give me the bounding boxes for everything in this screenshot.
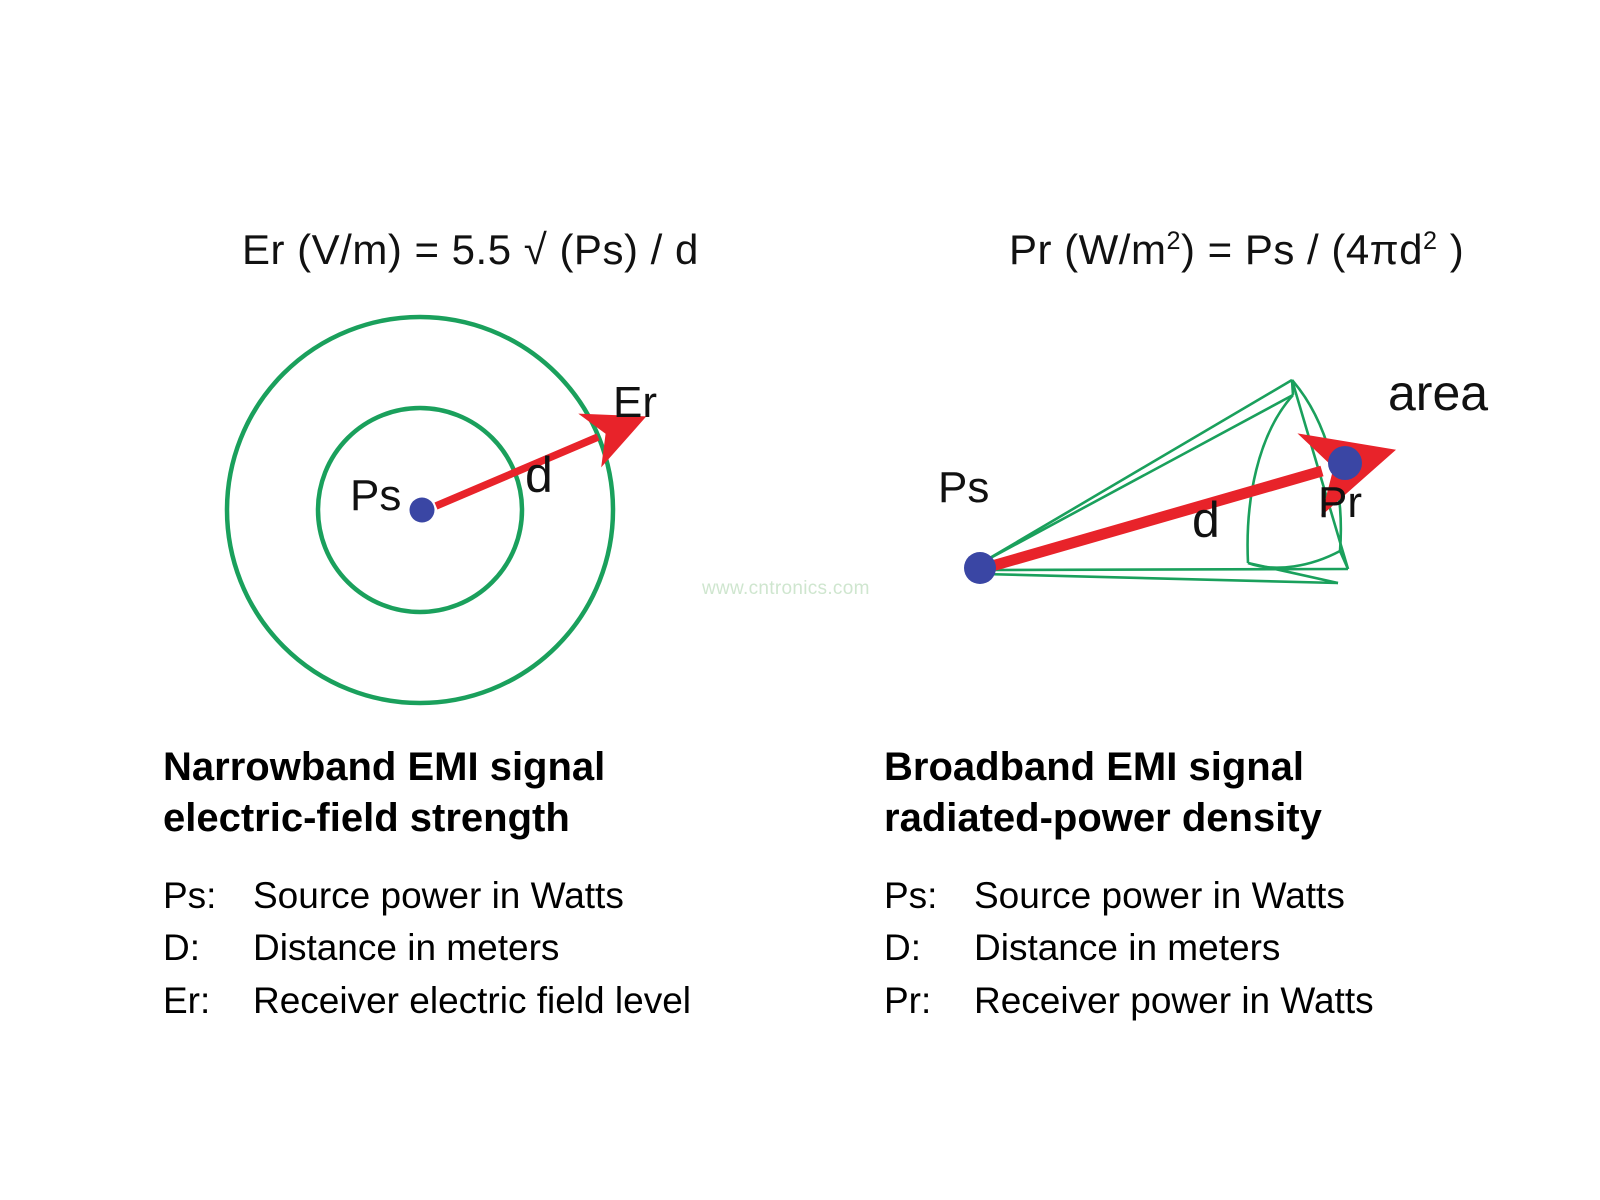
inner-wavefront-circle bbox=[318, 408, 522, 612]
receiver-point bbox=[1328, 446, 1362, 480]
list-item: Ps: Source power in Watts bbox=[163, 870, 853, 923]
left-caption-block: Narrowband EMI signal electric-field str… bbox=[163, 742, 853, 1027]
legend-value: Distance in meters bbox=[253, 922, 559, 975]
left-caption-line2: electric-field strength bbox=[163, 793, 853, 844]
legend-value: Source power in Watts bbox=[253, 870, 624, 923]
right-distance-label: d bbox=[1192, 495, 1220, 545]
left-distance-label: d bbox=[525, 450, 553, 500]
cone-ruling-bottom-near bbox=[983, 574, 1338, 583]
legend-key: Pr: bbox=[884, 975, 974, 1028]
legend-key: D: bbox=[884, 922, 974, 975]
right-source-label: Ps bbox=[938, 466, 989, 510]
right-cone-group bbox=[983, 380, 1348, 583]
left-distance-arrow bbox=[436, 437, 598, 506]
left-source-label: Ps bbox=[350, 474, 401, 518]
list-item: D: Distance in meters bbox=[163, 922, 853, 975]
legend-key: Er: bbox=[163, 975, 253, 1028]
cone-ruling-top-near bbox=[983, 395, 1293, 562]
area-patch-bottom-corner bbox=[1340, 551, 1348, 569]
area-label: area bbox=[1388, 368, 1488, 418]
left-caption-title: Narrowband EMI signal electric-field str… bbox=[163, 742, 853, 844]
cone-ruling-bottom-far bbox=[983, 569, 1348, 570]
list-item: D: Distance in meters bbox=[884, 922, 1574, 975]
legend-value: Receiver electric field level bbox=[253, 975, 691, 1028]
legend-key: Ps: bbox=[884, 870, 974, 923]
left-legend-list: Ps: Source power in Watts D: Distance in… bbox=[163, 870, 853, 1028]
list-item: Pr: Receiver power in Watts bbox=[884, 975, 1574, 1028]
right-receiver-label: Pr bbox=[1318, 481, 1362, 525]
right-legend-list: Ps: Source power in Watts D: Distance in… bbox=[884, 870, 1574, 1028]
right-distance-arrow bbox=[992, 471, 1322, 566]
cap-link-top bbox=[1292, 380, 1293, 395]
left-caption-line1: Narrowband EMI signal bbox=[163, 742, 853, 793]
legend-key: D: bbox=[163, 922, 253, 975]
cone-ruling-top-far bbox=[983, 380, 1292, 562]
site-watermark: www.cntronics.com bbox=[702, 578, 870, 600]
list-item: Ps: Source power in Watts bbox=[884, 870, 1574, 923]
source-point-right bbox=[964, 552, 996, 584]
right-formula-tail: ) bbox=[1438, 226, 1465, 273]
right-caption-block: Broadband EMI signal radiated-power dens… bbox=[884, 742, 1574, 1027]
right-caption-line1: Broadband EMI signal bbox=[884, 742, 1574, 793]
right-formula: Pr (W/m2) = Ps / (4πd2 ) bbox=[1009, 226, 1464, 274]
outer-wavefront-circle bbox=[227, 317, 613, 703]
left-receiver-label: Er bbox=[613, 381, 657, 425]
right-formula-sup2: 2 bbox=[1423, 227, 1438, 255]
list-item: Er: Receiver electric field level bbox=[163, 975, 853, 1028]
left-formula: Er (V/m) = 5.5 √ (Ps) / d bbox=[242, 226, 699, 274]
right-formula-base: Pr (W/m bbox=[1009, 226, 1166, 273]
source-point-left bbox=[410, 498, 435, 523]
inner-cap-bottom-edge bbox=[1248, 563, 1338, 583]
right-caption-line2: radiated-power density bbox=[884, 793, 1574, 844]
legend-value: Distance in meters bbox=[974, 922, 1280, 975]
cap-bottom-curve bbox=[1248, 551, 1340, 568]
left-circles-group bbox=[227, 317, 613, 703]
legend-value: Receiver power in Watts bbox=[974, 975, 1374, 1028]
inner-cap-left-edge bbox=[1248, 395, 1293, 563]
area-patch-far-top-to-bottom bbox=[1292, 380, 1348, 569]
right-caption-title: Broadband EMI signal radiated-power dens… bbox=[884, 742, 1574, 844]
legend-value: Source power in Watts bbox=[974, 870, 1345, 923]
diagram-page: Er (V/m) = 5.5 √ (Ps) / d Pr (W/m2) = Ps… bbox=[0, 0, 1600, 1200]
right-formula-sup1: 2 bbox=[1166, 227, 1181, 255]
legend-key: Ps: bbox=[163, 870, 253, 923]
right-formula-mid: ) = Ps / (4πd bbox=[1181, 226, 1423, 273]
